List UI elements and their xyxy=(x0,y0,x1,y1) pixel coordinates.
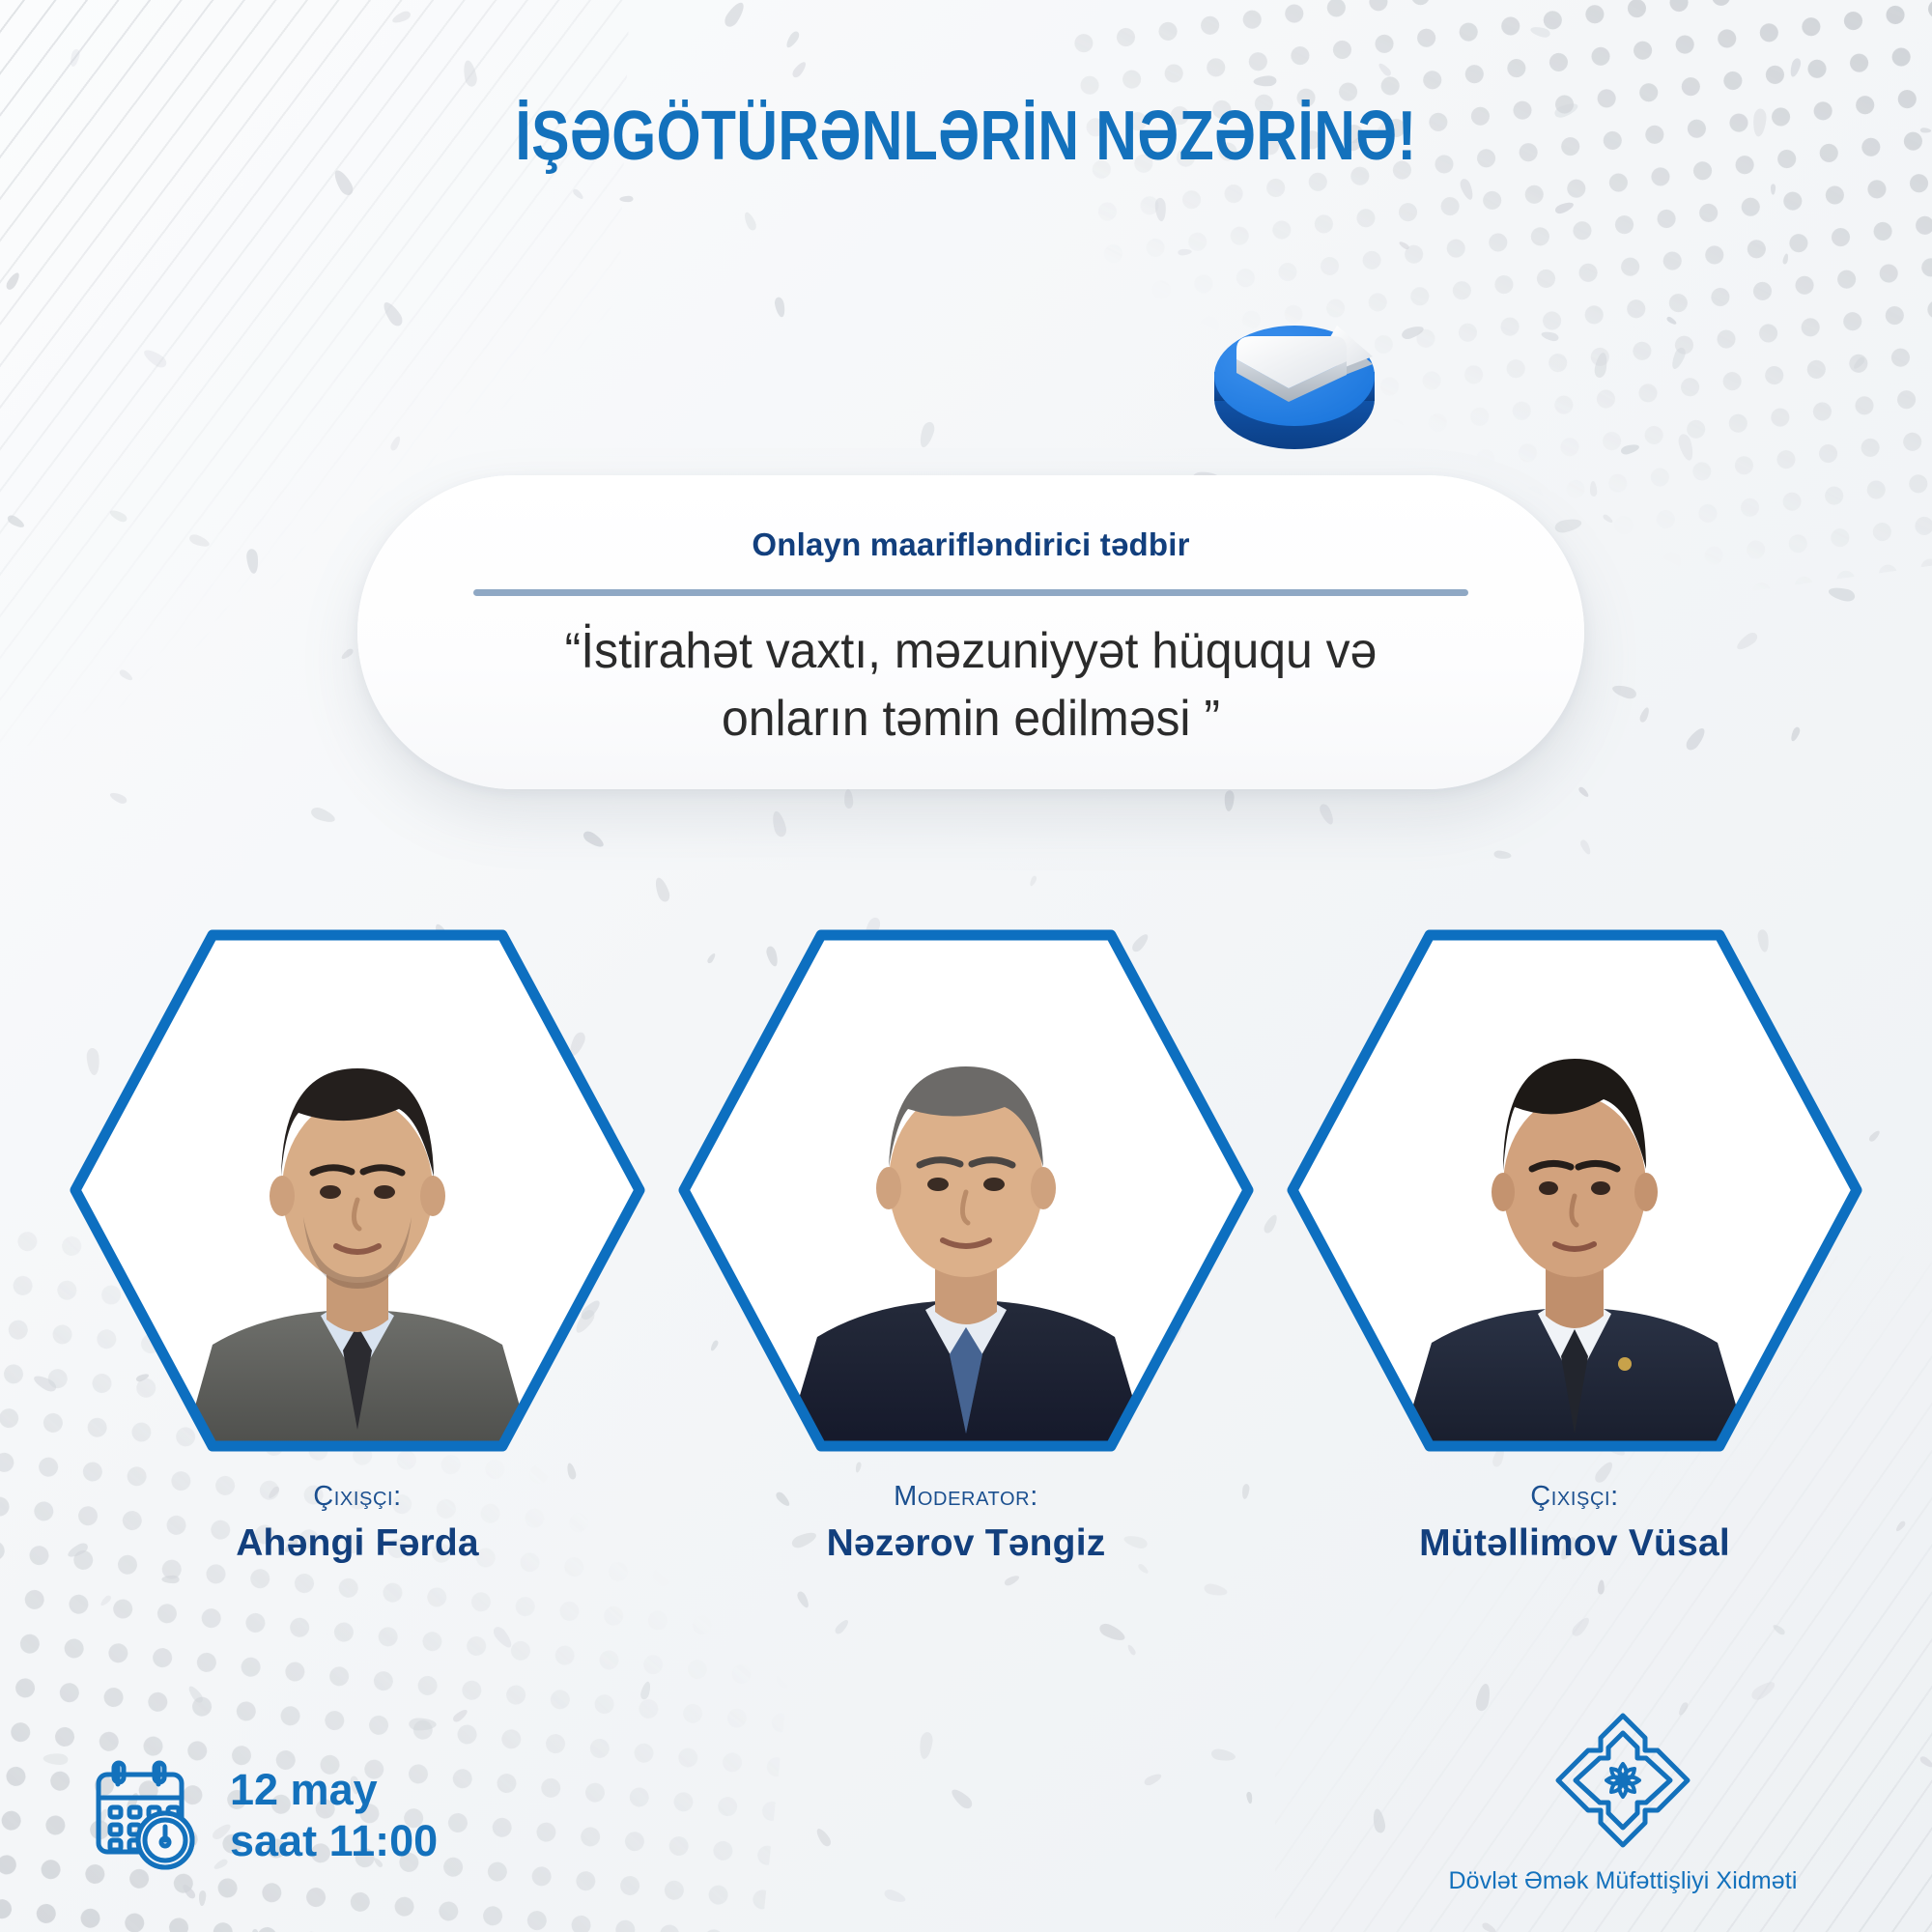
petal-shape xyxy=(462,59,478,87)
speaker-role: Moderator: xyxy=(676,1481,1256,1513)
petal-shape xyxy=(1620,442,1640,456)
petal-shape xyxy=(1028,875,1037,887)
petal-shape xyxy=(1570,1615,1592,1638)
petal-shape xyxy=(774,297,786,318)
event-topic-line-1: “İstirahət vaxtı, məzuniyyət hüququ və xyxy=(565,623,1378,679)
petal-shape xyxy=(1782,253,1789,265)
petal-shape xyxy=(252,1928,260,1932)
petal-shape xyxy=(1610,682,1637,699)
petal-shape xyxy=(1638,706,1651,724)
petal-shape xyxy=(108,507,128,523)
petal-shape xyxy=(1598,1579,1605,1595)
petal-shape xyxy=(309,806,337,826)
speaker-card: Çıxışçı: Ahəngi Fərda xyxy=(68,927,647,1565)
petal-shape xyxy=(1155,198,1168,222)
petal-shape xyxy=(742,211,757,232)
petal-shape xyxy=(187,532,211,549)
petal-shape xyxy=(1553,200,1575,215)
petal-shape xyxy=(814,1827,833,1849)
petal-shape xyxy=(1204,1582,1229,1598)
petal-shape xyxy=(141,347,169,371)
petal-shape xyxy=(70,48,82,68)
speaker-name: Ahəngi Fərda xyxy=(68,1522,647,1565)
petal-shape xyxy=(1771,184,1776,194)
petal-shape xyxy=(1493,850,1512,860)
calendar-clock-icon xyxy=(85,1755,201,1876)
petal-shape xyxy=(6,514,26,530)
petal-shape xyxy=(1541,330,1560,343)
petal-shape xyxy=(1126,1644,1137,1657)
event-date-time: 12 may saat 11:00 xyxy=(230,1765,438,1866)
speaker-photo-frame xyxy=(68,927,647,1454)
ornamental-diamond-logo-icon xyxy=(1415,1708,1831,1858)
petal-shape xyxy=(1224,789,1235,810)
speaker-name: Mütəllimov Vüsal xyxy=(1285,1522,1864,1565)
petal-shape xyxy=(1735,631,1760,653)
petal-shape xyxy=(389,436,403,452)
petal-shape xyxy=(1852,356,1866,371)
petal-shape xyxy=(1143,1772,1163,1787)
speaker-card: Çıxışçı: Mütəllimov Vüsal xyxy=(1285,927,1864,1565)
petal-shape xyxy=(1666,316,1678,327)
speaker-card: Moderator: Nəzərov Təngiz xyxy=(676,927,1256,1565)
petal-shape xyxy=(882,1888,906,1905)
petal-shape xyxy=(1097,1621,1127,1644)
petal-shape xyxy=(1372,1808,1387,1834)
petal-shape xyxy=(1577,786,1590,799)
speaker-photo-frame xyxy=(676,927,1256,1454)
video-camera-3d-icon xyxy=(1196,275,1394,469)
petal-shape xyxy=(5,271,22,292)
petal-shape xyxy=(1210,1747,1236,1763)
organisation-logo: Dövlət Əmək Müfəttişliyi Xidməti xyxy=(1415,1708,1831,1895)
petal-shape xyxy=(409,1719,437,1731)
petal-shape xyxy=(1788,57,1802,78)
petal-shape xyxy=(1669,347,1688,372)
petal-shape xyxy=(1458,177,1475,201)
petal-shape xyxy=(1004,1574,1021,1587)
petal-shape xyxy=(1602,513,1614,524)
petal-shape xyxy=(340,647,355,661)
petal-shape xyxy=(1683,725,1708,753)
petal-shape xyxy=(1377,61,1393,77)
petal-shape xyxy=(186,1685,205,1705)
petal-shape xyxy=(949,1786,975,1811)
petal-shape xyxy=(43,1753,68,1766)
petal-shape xyxy=(1578,838,1592,856)
event-topic-line-2: onların təmin edilməsi ” xyxy=(722,691,1220,747)
petal-shape xyxy=(1480,1921,1496,1932)
petal-shape xyxy=(1401,324,1426,341)
petal-shape xyxy=(1918,1754,1932,1769)
petal-shape xyxy=(653,876,672,903)
card-divider xyxy=(473,589,1468,596)
petal-shape xyxy=(796,1590,811,1609)
event-kicker: Onlayn maarifləndirici tədbir xyxy=(357,526,1584,563)
petal-shape xyxy=(181,1882,197,1899)
petal-shape xyxy=(582,829,607,850)
petal-shape xyxy=(246,549,260,575)
petal-shape xyxy=(491,1624,515,1650)
petal-shape xyxy=(619,196,633,203)
petal-shape xyxy=(784,29,802,49)
petal-shape xyxy=(1318,803,1336,827)
page-title: İŞƏGÖTÜRƏNLƏRİN NƏZƏRİNƏ! xyxy=(174,97,1758,176)
petal-shape xyxy=(571,187,584,200)
speaker-role: Çıxışçı: xyxy=(1285,1481,1864,1513)
speaker-role: Çıxışçı: xyxy=(68,1481,647,1513)
petal-shape xyxy=(1749,1678,1777,1702)
event-date: 12 may xyxy=(230,1765,438,1816)
event-time: saat 11:00 xyxy=(230,1816,438,1867)
petal-shape xyxy=(770,810,788,838)
petal-shape xyxy=(1590,481,1598,497)
petal-shape xyxy=(451,1707,469,1723)
petal-shape xyxy=(1529,25,1551,39)
petal-shape xyxy=(199,1889,207,1906)
speakers-row: Çıxışçı: Ahəngi Fərda xyxy=(0,927,1932,1546)
petal-shape xyxy=(1178,248,1192,256)
petal-shape xyxy=(722,0,747,29)
petal-shape xyxy=(1676,433,1695,462)
petal-shape xyxy=(1919,128,1931,133)
petal-shape xyxy=(1246,1791,1253,1804)
petal-shape xyxy=(833,1618,850,1636)
petal-shape xyxy=(118,668,134,682)
organisation-name: Dövlət Əmək Müfəttişliyi Xidməti xyxy=(1415,1867,1831,1895)
petal-shape xyxy=(918,1731,933,1760)
petal-shape xyxy=(1254,75,1277,87)
event-topic: “İstirahət vaxtı, məzuniyyət hüququ və o… xyxy=(449,618,1493,753)
petal-shape xyxy=(843,789,853,810)
petal-shape xyxy=(917,420,936,449)
petal-shape xyxy=(1790,725,1802,742)
speaker-name: Nəzərov Təngiz xyxy=(676,1522,1256,1565)
petal-shape xyxy=(1772,1623,1786,1636)
petal-shape xyxy=(99,1594,113,1607)
petal-shape xyxy=(108,791,128,806)
petal-shape xyxy=(1827,585,1856,604)
event-card: Onlayn maarifləndirici tədbir “İstirahət… xyxy=(357,475,1584,789)
petal-shape xyxy=(639,1681,652,1701)
petal-shape xyxy=(1593,352,1608,379)
petal-shape xyxy=(790,60,808,79)
speaker-photo-frame xyxy=(1285,927,1864,1454)
petal-shape xyxy=(380,299,405,328)
petal-shape xyxy=(1398,241,1410,251)
petal-shape xyxy=(390,10,412,25)
petal-shape xyxy=(162,1575,180,1582)
event-datetime: 12 may saat 11:00 xyxy=(85,1755,438,1876)
